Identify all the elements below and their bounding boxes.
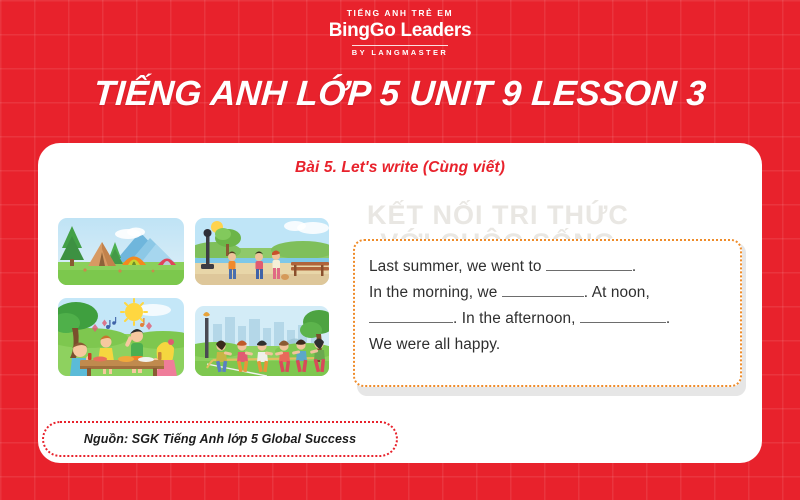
worksheet-line3-post: .: [666, 310, 670, 327]
worksheet-blank-2[interactable]: [502, 296, 584, 297]
thumbnail-camping-tents-mountains: [58, 218, 184, 285]
worksheet-line-3: . In the afternoon, .: [369, 306, 726, 332]
thumbnail-children-picnic-outdoors: [58, 298, 184, 376]
worksheet-line-4: We were all happy.: [369, 332, 726, 358]
worksheet-line1-post: .: [632, 258, 636, 275]
worksheet-blank-3[interactable]: [369, 322, 453, 323]
brand-tagline: TIẾNG ANH TRẺ EM: [0, 9, 800, 18]
worksheet-line2-pre: In the morning, we: [369, 284, 502, 301]
worksheet-blank-4[interactable]: [580, 322, 666, 323]
thumbnail-children-tug-of-war: [195, 306, 329, 376]
worksheet-line2-post: . At noon,: [584, 284, 650, 301]
worksheet-line-2: In the morning, we . At noon,: [369, 280, 726, 306]
brand-by: BY LANGMASTER: [352, 49, 448, 57]
source-badge: Nguồn: SGK Tiếng Anh lớp 5 Global Succes…: [42, 421, 398, 457]
brand-by-wrap: BY LANGMASTER: [352, 45, 448, 57]
thumbnail-children-walking-park: [195, 218, 329, 285]
lesson-subtitle: Bài 5. Let's write (Cùng viết): [38, 159, 762, 177]
worksheet-textbox: Last summer, we went to . In the morning…: [353, 239, 742, 387]
worksheet-line3-mid: . In the afternoon,: [453, 310, 580, 327]
brand-logo: TIẾNG ANH TRẺ EM BingGo Leaders BY LANGM…: [0, 9, 800, 59]
worksheet-blank-1[interactable]: [546, 270, 632, 271]
worksheet-line1-pre: Last summer, we went to: [369, 258, 546, 275]
source-label: Nguồn: SGK Tiếng Anh lớp 5 Global Succes…: [84, 432, 356, 446]
page-root: TIẾNG ANH TRẺ EM BingGo Leaders BY LANGM…: [0, 0, 800, 500]
brand-name: BingGo Leaders: [0, 21, 800, 40]
page-title: TIẾNG ANH LỚP 5 UNIT 9 LESSON 3: [0, 74, 800, 114]
content-card: Bài 5. Let's write (Cùng viết) KẾT NỐI T…: [38, 143, 762, 463]
worksheet-line-1: Last summer, we went to .: [369, 254, 726, 280]
